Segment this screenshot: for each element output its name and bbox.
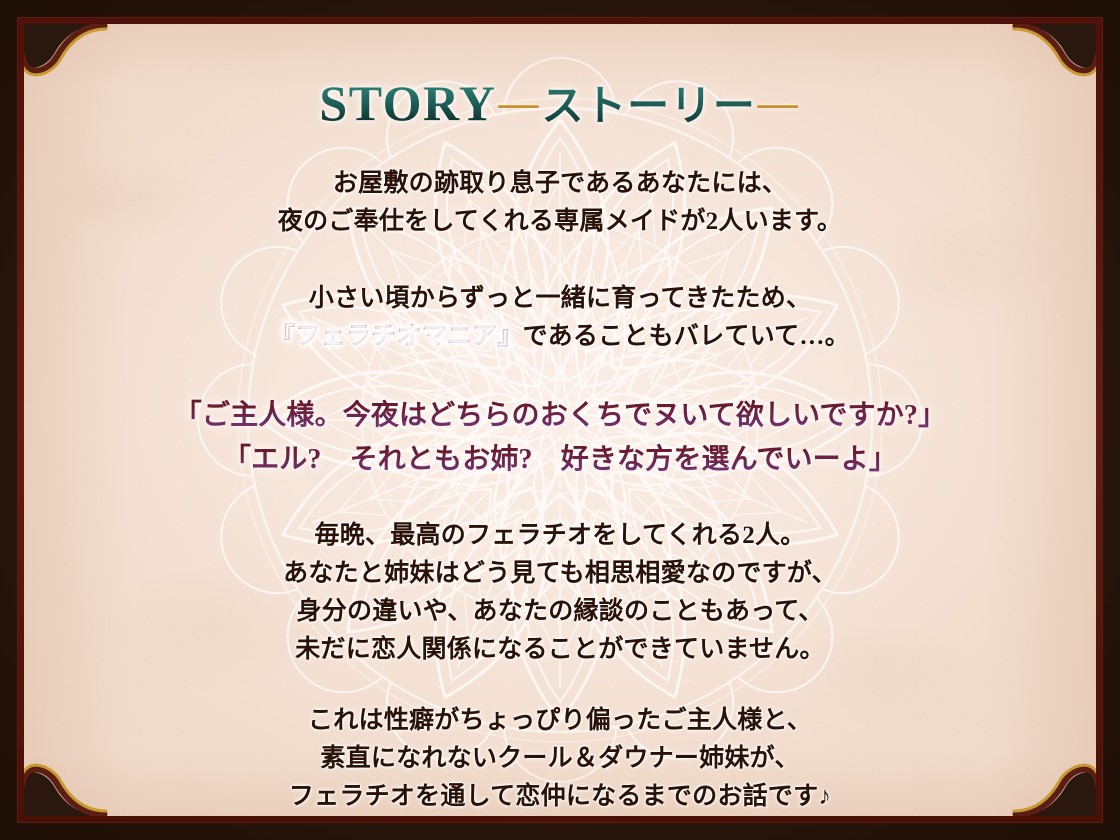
paragraph-summary: これは性癖がちょっぴり偏ったご主人様と、 素直になれないクール＆ダウナー姉妹が、… [24, 702, 1096, 816]
text-line: フェラチオを通して恋仲になるまでのお話です♪ [24, 778, 1096, 816]
story-panel-screenshot: STORY—ストーリー— お屋敷の跡取り息子であるあなたには、 夜のご奉仕をして… [0, 0, 1120, 840]
text-line: 未だに恋人関係になることができていません。 [24, 631, 1096, 669]
text-line: 小さい頃からずっと一緒に育ってきたため、 [24, 280, 1096, 318]
paragraph-situation: 毎晩、最高のフェラチオをしてくれる2人。 あなたと姉妹はどう見ても相思相愛なので… [24, 517, 1096, 669]
story-content: STORY—ストーリー— お屋敷の跡取り息子であるあなたには、 夜のご奉仕をして… [24, 24, 1096, 816]
page-title-japanese: ストーリー [541, 84, 755, 130]
dialogue-line: 「ご主人様。今夜はどちらのおくちでヌいて欲しいですか?」 [24, 394, 1096, 438]
text-line-with-accent: 『フェラチオマニア』であることもバレていて…。 [24, 318, 1096, 356]
text-line: 身分の違いや、あなたの縁談のこともあって、 [24, 593, 1096, 631]
text-line: 毎晩、最高のフェラチオをしてくれる2人。 [24, 517, 1096, 555]
text-line: 素直になれないクール＆ダウナー姉妹が、 [24, 740, 1096, 778]
dialogue-line: 「エル? それともお姉? 好きな方を選んでいーよ」 [24, 438, 1096, 482]
text-line: これは性癖がちょっぴり偏ったご主人様と、 [24, 702, 1096, 740]
text-line: 夜のご奉仕をしてくれる専属メイドが2人います。 [24, 203, 1096, 241]
text-line: お屋敷の跡取り息子であるあなたには、 [24, 165, 1096, 203]
text-line: あなたと姉妹はどう見ても相思相愛なのですが、 [24, 555, 1096, 593]
paragraph-intro: お屋敷の跡取り息子であるあなたには、 夜のご奉仕をしてくれる専属メイドが2人いま… [24, 165, 1096, 241]
paragraph-childhood: 小さい頃からずっと一緒に育ってきたため、 『フェラチオマニア』であることもバレて… [24, 280, 1096, 356]
paragraph-dialogue: 「ご主人様。今夜はどちらのおくちでヌいて欲しいですか?」 「エル? それともお姉… [24, 394, 1096, 482]
page-title-english: STORY [319, 75, 496, 131]
accent-phrase: 『フェラチオマニア』 [270, 323, 523, 350]
text-remainder: であることもバレていて…。 [523, 323, 850, 350]
title-dash-right: — [756, 80, 801, 125]
title-dash-left: — [497, 80, 542, 125]
page-title: STORY—ストーリー— [319, 78, 800, 129]
cream-content-panel: STORY—ストーリー— お屋敷の跡取り息子であるあなたには、 夜のご奉仕をして… [24, 24, 1096, 816]
